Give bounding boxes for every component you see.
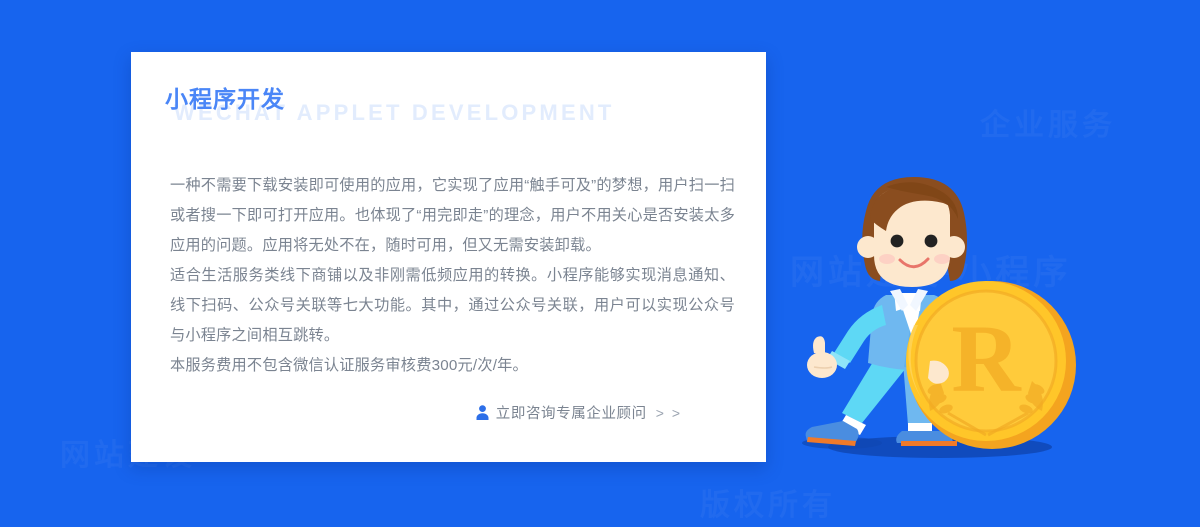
background-watermark: 企业服务	[980, 100, 1116, 144]
paragraph: 本服务费用不包含微信认证服务审核费300元/次/年。	[170, 351, 735, 381]
chevron-right-icon: > >	[656, 405, 682, 421]
card-inner: WECHAT APPLET DEVELOPMENT 小程序开发 一种不需要下载安…	[165, 86, 738, 442]
paragraph: 一种不需要下载安装即可使用的应用，它实现了应用“触手可及”的梦想，用户扫一扫或者…	[170, 171, 735, 261]
consult-advisor-label: 立即咨询专属企业顾问	[496, 402, 647, 423]
page-background: 专业的网站建设 网站建设·小程序 版权所有 企业服务 网站建设 WECHAT A…	[0, 0, 1200, 527]
businesswoman-with-coin-illustration: R	[790, 175, 1080, 485]
background-watermark: 版权所有	[700, 480, 836, 524]
content-card: WECHAT APPLET DEVELOPMENT 小程序开发 一种不需要下载安…	[131, 52, 766, 462]
card-body: 一种不需要下载安装即可使用的应用，它实现了应用“触手可及”的梦想，用户扫一扫或者…	[165, 171, 738, 381]
svg-text:R: R	[951, 305, 1022, 412]
card-heading: WECHAT APPLET DEVELOPMENT 小程序开发	[165, 86, 738, 150]
left-eye	[891, 235, 904, 248]
consult-advisor-link[interactable]: 立即咨询专属企业顾问 > >	[476, 402, 682, 423]
paragraph: 适合生活服务类线下商铺以及非刚需低频应用的转换。小程序能够实现消息通知、线下扫码…	[170, 261, 735, 351]
right-eye	[925, 235, 938, 248]
user-icon	[476, 405, 489, 420]
page-title: 小程序开发	[165, 86, 285, 114]
